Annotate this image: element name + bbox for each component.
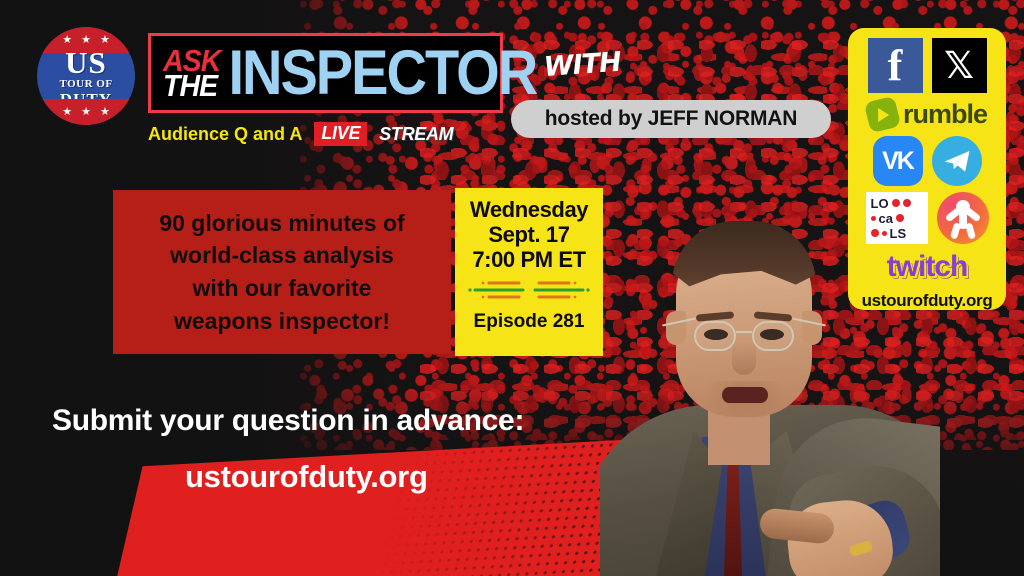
description-line-1: 90 glorious minutes of	[159, 208, 404, 239]
us-tour-of-duty-logo: ★ ★ ★ US TOUR OF DUTY ★ ★ ★	[37, 27, 135, 125]
title-stack: ASK THE INSPECTOR	[163, 48, 536, 99]
description-box: 90 glorious minutes of world-class analy…	[113, 190, 451, 354]
with-label: WITH	[543, 47, 622, 83]
schedule-day: Wednesday	[470, 197, 588, 222]
locals-dot	[892, 199, 900, 207]
star-icon: ★	[81, 35, 91, 46]
photo-ear-right	[802, 311, 822, 345]
rumble-wordmark: rumble	[903, 99, 987, 130]
social-row-3: LO ca LS	[866, 192, 989, 244]
badge-bottom-arc: ★ ★ ★	[37, 99, 135, 125]
locals-icon[interactable]: LO ca LS	[866, 192, 928, 244]
description-line-4: weapons inspector!	[174, 306, 390, 337]
description-line-3: with our favorite	[193, 273, 372, 304]
audience-label: Audience Q and A	[148, 124, 302, 145]
schedule-time: 7:00 PM ET	[472, 247, 585, 272]
rumble-play-mark	[864, 96, 902, 134]
cta-prompt: Submit your question in advance:	[52, 404, 524, 438]
locals-dot	[871, 229, 879, 237]
telegram-icon[interactable]	[932, 136, 982, 186]
locals-text-1: LO	[871, 197, 889, 210]
description-line-2: world-class analysis	[170, 240, 394, 271]
star-icon: ★	[100, 35, 110, 46]
cta-url[interactable]: ustourofduty.org	[185, 459, 428, 495]
social-links-panel: f 𝕏 rumble VK LO	[848, 28, 1006, 310]
host-pill: hosted by JEFF NORMAN	[511, 100, 831, 138]
locals-row-2: ca	[871, 211, 923, 225]
title-the: THE	[163, 73, 220, 98]
star-icon: ★	[100, 107, 110, 118]
promo-graphic: ★ ★ ★ US TOUR OF DUTY ★ ★ ★ ASK THE INSP…	[0, 0, 1024, 576]
title-inspector: INSPECTOR	[228, 48, 536, 98]
schedule-box: Wednesday Sept. 17 7:00 PM ET Episode 28…	[455, 188, 603, 356]
stream-label: STREAM	[379, 124, 453, 145]
x-glyph: 𝕏	[944, 47, 974, 84]
photo-ear-left	[666, 311, 686, 345]
decorative-divider-ornament	[465, 277, 593, 303]
facebook-glyph: f	[888, 44, 903, 88]
live-badge: LIVE	[314, 122, 367, 146]
social-panel-url[interactable]: ustourofduty.org	[862, 291, 993, 311]
locals-text-2: ca	[879, 212, 893, 225]
odysee-figure-leg-left	[949, 222, 960, 239]
badge-top-arc: ★ ★ ★	[37, 27, 135, 53]
star-icon: ★	[62, 35, 72, 46]
x-twitter-icon[interactable]: 𝕏	[932, 38, 987, 93]
photo-nose	[732, 341, 756, 375]
locals-text-3: LS	[890, 227, 907, 240]
locals-dot	[882, 231, 887, 236]
facebook-icon[interactable]: f	[868, 38, 923, 93]
badge-tour-of-text: TOUR OF	[59, 78, 112, 91]
social-row-2: VK	[873, 136, 982, 186]
subtitle-row: Audience Q and A LIVE STREAM	[148, 122, 453, 146]
odysee-icon[interactable]	[937, 192, 989, 244]
vk-glyph: VK	[882, 147, 913, 176]
episode-number: Episode 281	[474, 311, 585, 333]
odysee-figure-leg-right	[964, 222, 975, 239]
show-title-box: ASK THE INSPECTOR	[148, 33, 503, 113]
photo-mouth	[722, 387, 768, 403]
locals-dot	[896, 214, 904, 222]
photo-eyeglass-lens-left	[694, 321, 736, 351]
locals-dot	[903, 199, 911, 207]
star-icon: ★	[81, 107, 91, 118]
social-row-1: f 𝕏	[868, 38, 987, 93]
twitch-icon[interactable]: twitch	[887, 252, 968, 282]
host-name: hosted by JEFF NORMAN	[545, 107, 797, 131]
photo-eyeglass-bridge	[736, 331, 752, 333]
vk-icon[interactable]: VK	[873, 136, 923, 186]
rumble-icon[interactable]: rumble	[867, 99, 987, 130]
paper-plane-glyph	[942, 146, 972, 176]
ask-the-group: ASK THE	[163, 48, 225, 99]
locals-row-3: LS	[871, 226, 923, 240]
locals-row-1: LO	[871, 196, 923, 210]
photo-eyeglass-lens-right	[752, 321, 794, 351]
locals-dot	[871, 216, 876, 221]
schedule-date: Sept. 17	[488, 222, 569, 247]
star-icon: ★	[62, 107, 72, 118]
